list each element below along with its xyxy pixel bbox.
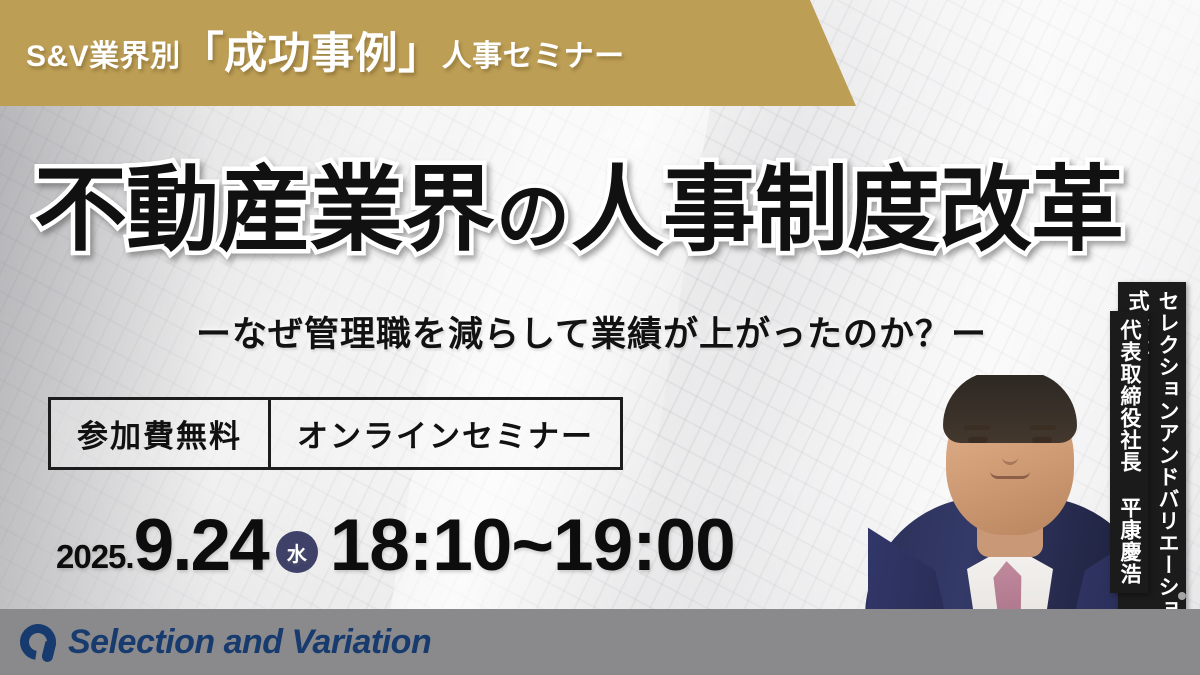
ribbon-quoted-text: 「成功事例」 bbox=[181, 33, 442, 76]
ribbon-suffix-text: 人事セミナー bbox=[442, 31, 625, 75]
ribbon-headline: S&V業界別 「成功事例」 人事セミナー bbox=[26, 31, 625, 75]
headline-particle: の bbox=[494, 175, 571, 258]
brand-name: Selection and Variation bbox=[68, 623, 431, 662]
top-gold-ribbon: S&V業界別 「成功事例」 人事セミナー bbox=[0, 0, 860, 106]
badge-online-seminar: オンラインセミナー bbox=[268, 400, 620, 467]
footer-bar: Selection and Variation bbox=[0, 609, 1200, 675]
speaker-eye-left bbox=[968, 437, 988, 443]
schedule-date: 9.24 bbox=[134, 512, 268, 579]
speaker-mouth bbox=[990, 471, 1030, 479]
logo-ring-shape bbox=[13, 617, 63, 667]
badge-free-admission: 参加費無料 bbox=[51, 400, 268, 467]
ribbon-prefix-text: S&V業界別 bbox=[26, 31, 181, 75]
schedule-year: 2025. bbox=[56, 538, 134, 576]
headline-part-2: 人事制度改革 bbox=[571, 158, 1123, 262]
page-subtitle: ーなぜ管理職を減らして業績が上がったのか？ー bbox=[196, 306, 987, 357]
speaker-eyebrow-left bbox=[964, 425, 990, 430]
seminar-banner: S&V業界別 「成功事例」 人事セミナー 不動産業界の人事制度改革 ーなぜ管理職… bbox=[0, 0, 1200, 675]
schedule-block: 2025. 9.24 水 18:10~19:00 bbox=[56, 512, 735, 579]
speaker-hair bbox=[943, 375, 1077, 443]
badge-group: 参加費無料 オンラインセミナー bbox=[48, 397, 623, 470]
headline-part-1: 不動産業界 bbox=[34, 158, 494, 262]
speaker-eyebrow-right bbox=[1030, 425, 1056, 430]
schedule-time: 18:10~19:00 bbox=[330, 512, 735, 579]
speaker-eye-right bbox=[1032, 437, 1052, 443]
page-title: 不動産業界の人事制度改革 bbox=[34, 162, 1174, 259]
selection-variation-logo-icon bbox=[18, 622, 58, 662]
edge-dot bbox=[1178, 592, 1186, 600]
day-of-week-badge: 水 bbox=[276, 531, 318, 573]
speaker-name-plate: 代表取締役社長 平康慶浩 bbox=[1110, 311, 1148, 593]
